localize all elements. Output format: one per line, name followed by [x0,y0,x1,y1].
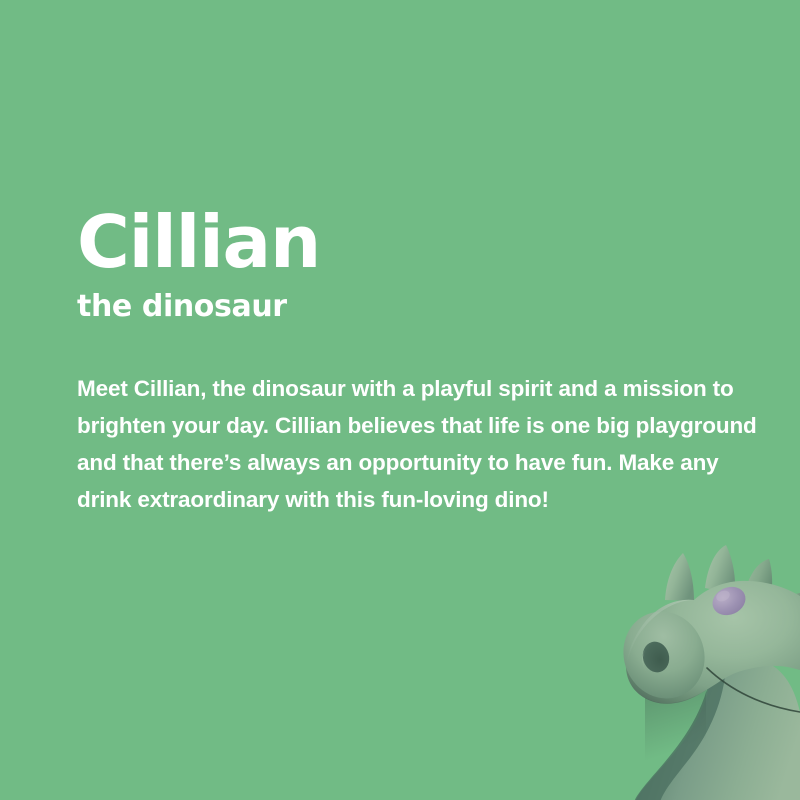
character-text-block: Cillian the dinosaur Meet Cillian, the d… [77,206,777,518]
character-description: Meet Cillian, the dinosaur with a playfu… [77,370,777,518]
character-subtitle: the dinosaur [77,290,777,324]
page-title: Cillian [77,206,777,278]
character-card: Cillian the dinosaur Meet Cillian, the d… [0,0,800,800]
